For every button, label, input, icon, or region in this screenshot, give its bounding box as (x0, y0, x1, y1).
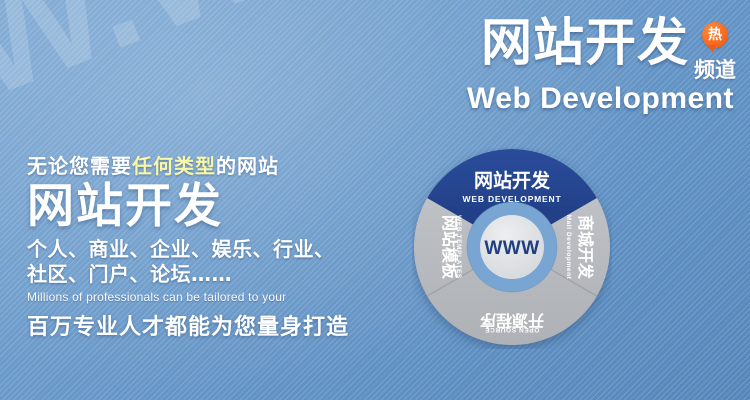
headline: 网站开发 (27, 183, 349, 232)
segment-label-en-open-source: OPEN SOURCE (485, 326, 540, 333)
segment-label-en-web-development: WEB DEVELOPMENT (463, 194, 562, 204)
header-title-cn: 网站开发 (481, 18, 689, 69)
marketing-copy-block: 无论您需要任何类型的网站 网站开发 个人、商业、企业、娱乐、行业、 社区、门户、… (27, 150, 349, 341)
segment-label-en-web-templates: WEB TEMPLATES (455, 215, 462, 279)
channel-label: 频道 (694, 54, 736, 84)
categories-line-2: 社区、门户、论坛…… (27, 262, 349, 287)
header-title-en: Web Development (467, 82, 736, 116)
segment-label-group-web-templates[interactable]: 网站模板 WEB TEMPLATES (440, 215, 462, 280)
web-development-banner: W.W.W 网站开发 热 频道 Web Development 无论您需要任何类… (0, 0, 750, 400)
segment-label-cn-web-development: 网站开发 (474, 169, 551, 192)
service-donut-diagram: WWW 网站开发 WEB DEVELOPMENT 网站模板 WEB TEMPLA… (412, 147, 612, 349)
www-watermark: W.W.W (0, 0, 528, 154)
segment-label-group-mall-development[interactable]: 商城开发 Mall Development (565, 215, 595, 280)
segment-label-group-open-source[interactable]: 开源程序 OPEN SOURCE (480, 311, 544, 333)
sub-english-line: Millions of professionals can be tailore… (27, 290, 349, 304)
hot-badge-icon: 热 (702, 22, 728, 48)
header-title-row: 网站开发 热 频道 (467, 18, 736, 84)
tagline-prefix: 无论您需要 (27, 154, 132, 178)
tagline-highlight: 任何类型 (132, 154, 216, 178)
tagline-suffix: 的网站 (216, 154, 279, 178)
segment-label-cn-mall-development: 商城开发 (576, 215, 595, 280)
header-title-block: 网站开发 热 频道 Web Development (467, 18, 736, 116)
tagline: 无论您需要任何类型的网站 (27, 150, 349, 179)
donut-svg: WWW 网站开发 WEB DEVELOPMENT 网站模板 WEB TEMPLA… (412, 147, 612, 349)
hub-label: WWW (484, 238, 539, 259)
hot-channel-group: 热 频道 (694, 18, 736, 84)
closing-line: 百万专业人才都能为您量身打造 (27, 309, 349, 341)
categories-line-1: 个人、商业、企业、娱乐、行业、 (27, 237, 349, 262)
segment-label-en-mall-development: Mall Development (565, 215, 572, 280)
